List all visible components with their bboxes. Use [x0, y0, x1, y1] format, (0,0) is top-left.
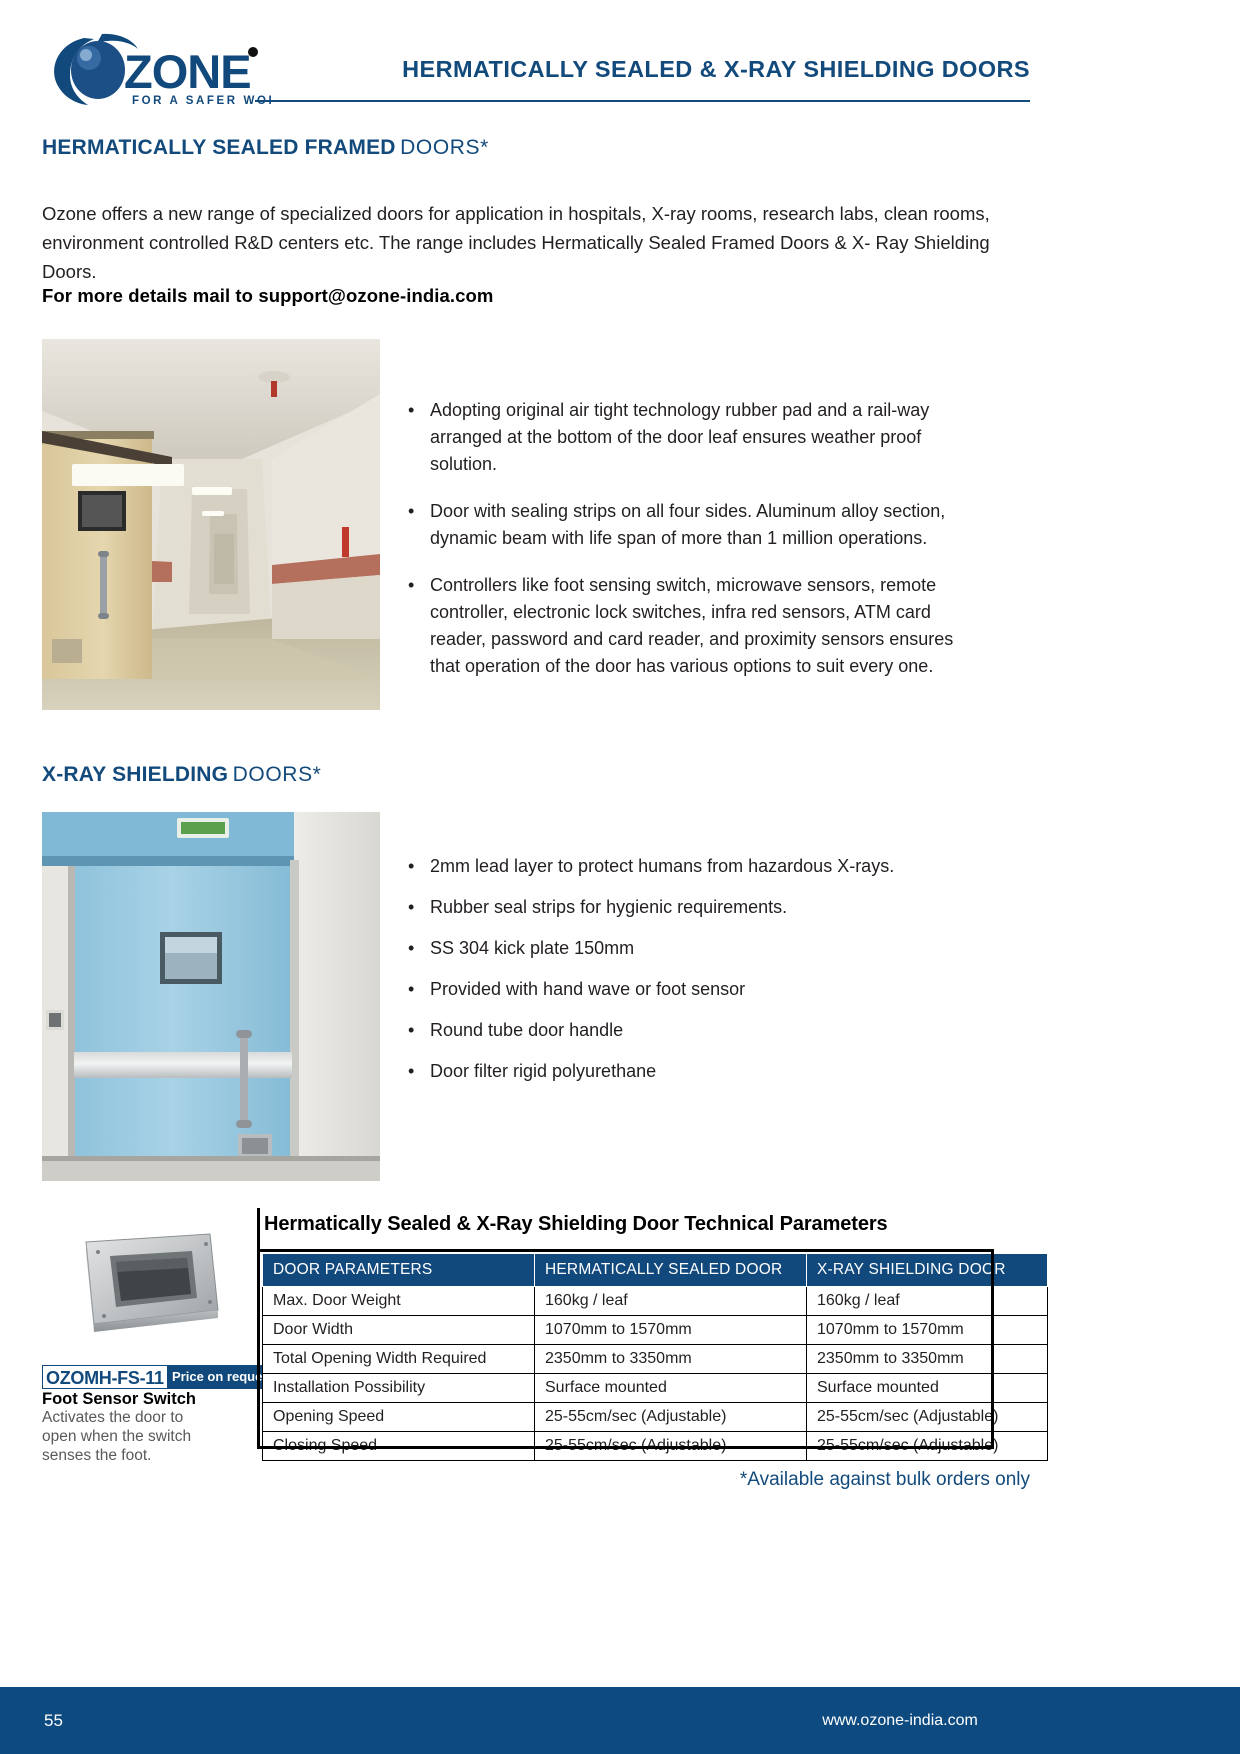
table-row: Total Opening Width Required 2350mm to 3…	[263, 1345, 1048, 1374]
product-code-row: OZOMH-FS-11 Price on request	[42, 1365, 267, 1389]
table-cell-xray: 160kg / leaf	[807, 1287, 1048, 1316]
table-cell-xray: 25-55cm/sec (Adjustable)	[807, 1403, 1048, 1432]
page-title: HERMATICALLY SEALED & X-RAY SHIELDING DO…	[285, 56, 1030, 83]
svg-text:FOR A SAFER WORLD: FOR A SAFER WORLD	[132, 95, 271, 107]
svg-text:ZONE: ZONE	[124, 45, 251, 98]
section2-heading-bold: X-RAY SHIELDING	[42, 763, 228, 786]
table-cell-parameter: Opening Speed	[263, 1403, 535, 1432]
bullet-dot-icon: •	[408, 1017, 430, 1044]
contact-line: For more details mail to support@ozone-i…	[42, 285, 493, 307]
list-item-text: Adopting original air tight technology r…	[430, 397, 988, 478]
blue-door-photo-graphic	[42, 812, 380, 1181]
list-item: • 2mm lead layer to protect humans from …	[408, 853, 988, 880]
table-cell-parameter: Door Width	[263, 1316, 535, 1345]
section1-heading-bold: HERMATICALLY SEALED FRAMED	[42, 136, 396, 159]
table-cell-hermatically: 2350mm to 3350mm	[535, 1345, 807, 1374]
column-header-x-ray-shielding-door: X-RAY SHIELDING DOOR	[807, 1254, 1048, 1287]
list-item: • Adopting original air tight technology…	[408, 397, 988, 478]
ozone-logo-icon: ZONE FOR A SAFER WORLD	[46, 30, 271, 110]
list-item-text: Controllers like foot sensing switch, mi…	[430, 572, 988, 680]
intro-paragraph: Ozone offers a new range of specialized …	[42, 199, 1002, 286]
table-cell-xray: Surface mounted	[807, 1374, 1048, 1403]
page-header: ZONE FOR A SAFER WORLD HERMATICALLY SEAL…	[0, 0, 1240, 122]
x-ray-shielding-feature-list: • 2mm lead layer to protect humans from …	[408, 853, 988, 1099]
table-cell-parameter: Installation Possibility	[263, 1374, 535, 1403]
list-item-text: SS 304 kick plate 150mm	[430, 935, 988, 962]
list-item-text: Round tube door handle	[430, 1017, 988, 1044]
corridor-photo-graphic	[42, 339, 380, 710]
table-title: Hermatically Sealed & X-Ray Shielding Do…	[264, 1213, 888, 1236]
table-cell-parameter: Max. Door Weight	[263, 1287, 535, 1316]
bullet-dot-icon: •	[408, 853, 430, 880]
table-row: Opening Speed 25-55cm/sec (Adjustable) 2…	[263, 1403, 1048, 1432]
table-cell-hermatically: 160kg / leaf	[535, 1287, 807, 1316]
x-ray-shielding-door-photo	[42, 812, 380, 1181]
table-header-row: DOOR PARAMETERS HERMATICALLY SEALED DOOR…	[263, 1254, 1048, 1287]
section-heading-x-ray-shielding: X-RAY SHIELDING DOORS*	[42, 763, 1030, 793]
section-heading-rule	[42, 791, 1030, 793]
header-divider	[255, 100, 1030, 102]
table-cell-xray: 2350mm to 3350mm	[807, 1345, 1048, 1374]
table-row: Door Width 1070mm to 1570mm 1070mm to 15…	[263, 1316, 1048, 1345]
list-item: • Controllers like foot sensing switch, …	[408, 572, 988, 680]
table-left-accent-bar	[257, 1208, 260, 1448]
section-heading-hermatically-sealed: HERMATICALLY SEALED FRAMED DOORS*	[42, 136, 1030, 166]
list-item-text: 2mm lead layer to protect humans from ha…	[430, 853, 988, 880]
list-item: • Door filter rigid polyurethane	[408, 1058, 988, 1085]
bullet-dot-icon: •	[408, 1058, 430, 1085]
table-row: Max. Door Weight 160kg / leaf 160kg / le…	[263, 1287, 1048, 1316]
column-header-hermatically-sealed-door: HERMATICALLY SEALED DOOR	[535, 1254, 807, 1287]
bullet-dot-icon: •	[408, 397, 430, 478]
section-heading-rule	[42, 164, 1030, 166]
column-header-door-parameters: DOOR PARAMETERS	[263, 1254, 535, 1287]
footer-website-url[interactable]: www.ozone-india.com	[0, 1712, 1240, 1730]
ozone-logo: ZONE FOR A SAFER WORLD	[46, 30, 271, 110]
table-row: Closing Speed 25-55cm/sec (Adjustable) 2…	[263, 1432, 1048, 1461]
list-item: • SS 304 kick plate 150mm	[408, 935, 988, 962]
bullet-dot-icon: •	[408, 976, 430, 1003]
price-badge: Price on request	[168, 1365, 267, 1389]
list-item: • Door with sealing strips on all four s…	[408, 498, 988, 552]
list-item: • Provided with hand wave or foot sensor	[408, 976, 988, 1003]
hermatically-sealed-door-photo	[42, 339, 380, 710]
list-item-text: Provided with hand wave or foot sensor	[430, 976, 988, 1003]
list-item: • Round tube door handle	[408, 1017, 988, 1044]
table-cell-parameter: Total Opening Width Required	[263, 1345, 535, 1374]
page-footer: 55 www.ozone-india.com	[0, 1687, 1240, 1754]
bullet-dot-icon: •	[408, 572, 430, 680]
section2-heading-light: DOORS*	[233, 763, 322, 786]
bullet-dot-icon: •	[408, 935, 430, 962]
technical-parameters-table: DOOR PARAMETERS HERMATICALLY SEALED DOOR…	[262, 1253, 1048, 1461]
list-item-text: Door with sealing strips on all four sid…	[430, 498, 988, 552]
foot-sensor-graphic	[60, 1224, 235, 1346]
list-item-text: Door filter rigid polyurethane	[430, 1058, 988, 1085]
table-cell-hermatically: 1070mm to 1570mm	[535, 1316, 807, 1345]
table-cell-xray: 1070mm to 1570mm	[807, 1316, 1048, 1345]
product-description: Activates the door to open when the swit…	[42, 1408, 222, 1465]
bullet-dot-icon: •	[408, 894, 430, 921]
table-cell-parameter: Closing Speed	[263, 1432, 535, 1461]
product-name: Foot Sensor Switch	[42, 1390, 196, 1409]
table-row: Installation Possibility Surface mounted…	[263, 1374, 1048, 1403]
product-code: OZOMH-FS-11	[42, 1365, 168, 1389]
table-cell-hermatically: 25-55cm/sec (Adjustable)	[535, 1403, 807, 1432]
hermatically-sealed-feature-list: • Adopting original air tight technology…	[408, 397, 988, 700]
table-cell-hermatically: 25-55cm/sec (Adjustable)	[535, 1432, 807, 1461]
foot-sensor-switch-photo	[60, 1224, 235, 1346]
section1-heading-light: DOORS*	[400, 136, 489, 159]
bullet-dot-icon: •	[408, 498, 430, 552]
list-item-text: Rubber seal strips for hygienic requirem…	[430, 894, 988, 921]
table-cell-hermatically: Surface mounted	[535, 1374, 807, 1403]
list-item: • Rubber seal strips for hygienic requir…	[408, 894, 988, 921]
footnote-bulk-orders: *Available against bulk orders only	[0, 1469, 1030, 1491]
table-cell-xray: 25-55cm/sec (Adjustable)	[807, 1432, 1048, 1461]
